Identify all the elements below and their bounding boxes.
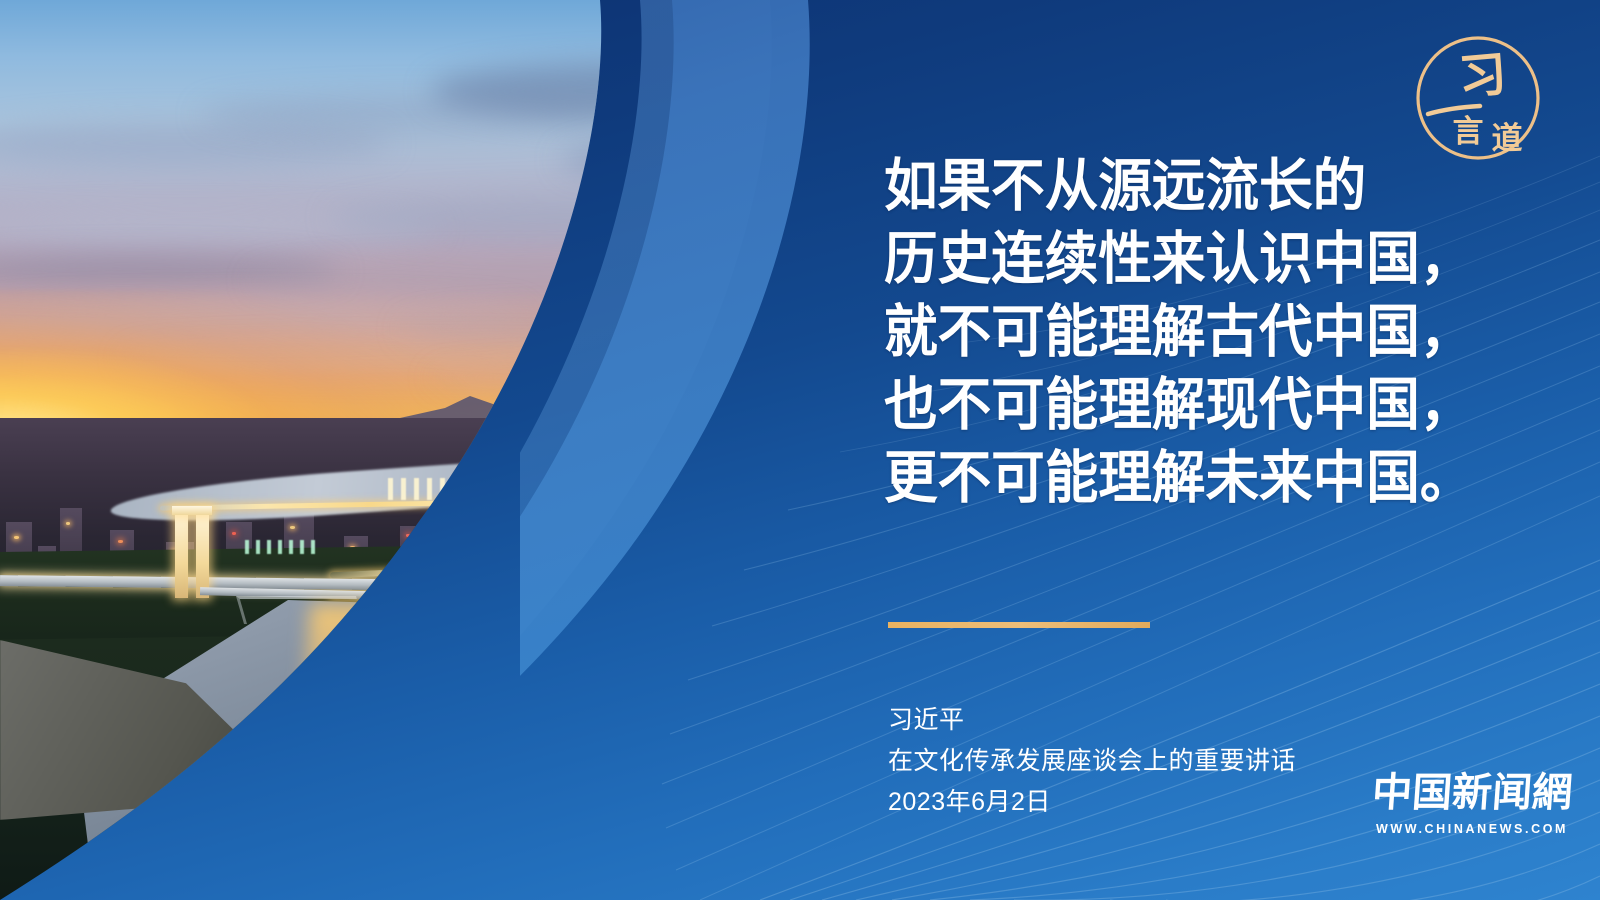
seal-char-yan: 言 — [1453, 114, 1484, 149]
publisher-char-wang: 網 — [1531, 770, 1572, 815]
quote-line-4: 也不可能理解现代中国， — [884, 369, 1504, 442]
quote-block: 如果不从源远流长的 历史连续性来认识中国， 就不可能理解古代中国， 也不可能理解… — [884, 150, 1544, 515]
quote-line-2: 历史连续性来认识中国， — [884, 223, 1504, 296]
chinanews-logo: 中 国 新 闻 網 WWW.CHINANEWS.COM — [1372, 766, 1572, 842]
publisher-char-wen: 闻 — [1491, 770, 1534, 815]
quote-poster: 习 言 道 如果不从源远流长的 历史连续性来认识中国， 就不可能理解古代中国， … — [0, 0, 1600, 900]
quote-line-1: 如果不从源远流长的 — [884, 150, 1504, 223]
publisher-char-xin: 新 — [1451, 770, 1494, 815]
quote-line-3: 就不可能理解古代中国， — [884, 296, 1504, 369]
attribution-speaker: 习近平 — [888, 700, 1508, 741]
gold-divider — [888, 622, 1150, 628]
seal-char-xi: 习 — [1456, 48, 1508, 105]
publisher-char-guo: 国 — [1411, 770, 1454, 815]
publisher-char-zhong: 中 — [1372, 770, 1414, 815]
xi-yan-dao-seal-logo: 习 言 道 — [1410, 30, 1546, 166]
quote-line-5: 更不可能理解未来中国。 — [884, 442, 1504, 515]
publisher-url: WWW.CHINANEWS.COM — [1372, 822, 1572, 836]
